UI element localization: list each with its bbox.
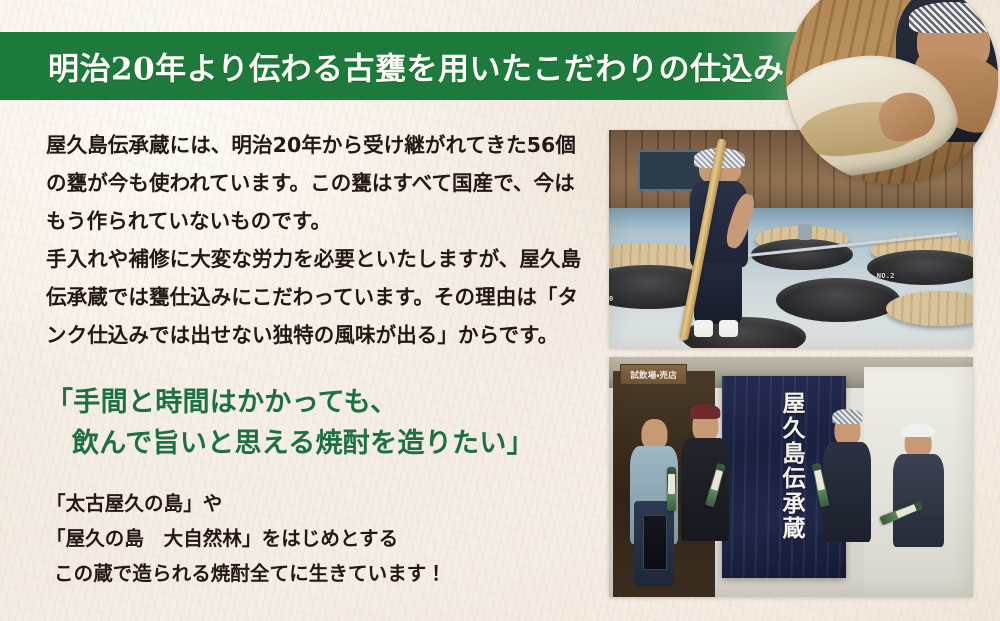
closing-line-1: 「太古屋久の島」や bbox=[46, 486, 594, 521]
pull-quote-line-2: 飲んで旨いと思える焼酎を造りたい」 bbox=[46, 423, 594, 464]
closing-block: 「太古屋久の島」や 「屋久の島 大自然林」をはじめとする この蔵で造られる焼酎全… bbox=[46, 486, 594, 591]
page-title: 明治20年より伝わる古甕を用いたこだわりの仕込み bbox=[48, 44, 785, 89]
article-text-column: 屋久島伝承蔵には、明治20年から受け継がれてきた56個の甕が今も使われています。… bbox=[46, 126, 594, 591]
worker-sock bbox=[694, 320, 713, 337]
jar-label: NO.2 bbox=[877, 272, 895, 280]
body-paragraph-1: 屋久島伝承蔵には、明治20年から受け継がれてきた56個の甕が今も使われています。… bbox=[46, 126, 594, 240]
photo-koji-basket-inset bbox=[786, 0, 998, 184]
photo-brewers-group-art: 試飲場・売店 屋久島伝承蔵 bbox=[609, 357, 973, 597]
body-paragraph-2: 手入れや補修に大変な労力を必要といたしますが、屋久島伝承蔵では甕仕込みにこだわっ… bbox=[46, 240, 594, 354]
header-banner: 明治20年より伝わる古甕を用いたこだわりの仕込み bbox=[0, 32, 900, 100]
jar-rim: NO.2 bbox=[867, 250, 973, 285]
pull-quote: 「手間と時間はかかっても、 飲んで旨いと思える焼酎を造りたい」 bbox=[46, 382, 594, 464]
worker-legs bbox=[694, 263, 742, 324]
noren-text: 屋久島伝承蔵 bbox=[778, 391, 804, 541]
photo-koji-basket-art bbox=[786, 0, 998, 184]
jar-label: NO.50 bbox=[609, 295, 614, 303]
brewery-valve bbox=[798, 224, 812, 240]
person-body bbox=[823, 442, 871, 542]
person-apron bbox=[634, 501, 674, 586]
person-cap bbox=[903, 424, 934, 437]
pull-quote-line-1: 「手間と時間はかかっても、 bbox=[46, 387, 397, 418]
person-hat bbox=[691, 404, 720, 419]
shop-sign: 試飲場・売店 bbox=[620, 364, 688, 385]
person-body bbox=[681, 438, 729, 541]
brewer-person bbox=[820, 415, 875, 597]
jar-rim bbox=[776, 278, 900, 322]
person-cap bbox=[833, 409, 862, 424]
worker-cap bbox=[909, 2, 994, 34]
photo-brewers-group: 試飲場・売店 屋久島伝承蔵 bbox=[609, 357, 973, 597]
promo-page: NO.50 NO.2 bbox=[0, 0, 1000, 621]
shochu-bottle bbox=[667, 467, 676, 511]
worker-sock bbox=[719, 320, 738, 337]
closing-line-3: この蔵で造られる焼酎全てに生きています！ bbox=[46, 556, 594, 591]
closing-line-2: 「屋久の島 大自然林」をはじめとする bbox=[46, 521, 594, 556]
